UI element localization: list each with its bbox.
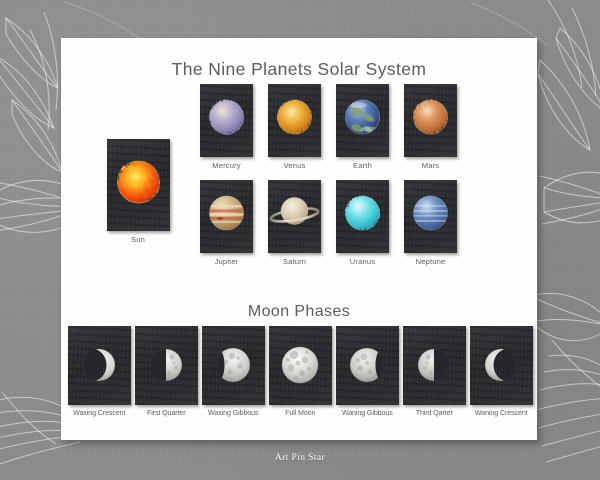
moon-label: Waning Crescent — [470, 409, 533, 417]
moon-card-image — [68, 326, 131, 405]
moon-label: Full Moon — [269, 409, 332, 417]
planet-grid: Mercury — [200, 84, 520, 266]
moon-card-full[interactable]: Full Moon — [269, 326, 332, 417]
sun-card[interactable]: Sun — [101, 139, 175, 244]
moon-card-waning-gibbous[interactable]: Waning Gibbous — [336, 326, 399, 417]
planet-row-outer: Jupiter — [200, 180, 520, 266]
moon-waxing-crescent-icon — [68, 326, 130, 405]
planet-card-mars[interactable]: Mars — [404, 84, 457, 170]
planet-card-image — [336, 180, 389, 253]
planet-label: Uranus — [336, 257, 389, 266]
planet-mercury-icon — [200, 84, 253, 157]
planet-card-image — [200, 84, 253, 157]
moon-waxing-gibbous-icon — [202, 326, 264, 405]
planet-label: Saturn — [268, 257, 321, 266]
planet-card-mercury[interactable]: Mercury — [200, 84, 253, 170]
planet-jupiter-icon — [200, 180, 253, 253]
moon-label: Third Qarter — [403, 409, 466, 417]
planet-neptune-icon — [404, 180, 457, 253]
moon-card-image — [403, 326, 466, 405]
moon-card-waxing-crescent[interactable]: Waxing Crescent — [68, 326, 131, 417]
moon-label: Waxing Crescent — [68, 409, 131, 417]
planet-venus-icon — [268, 84, 321, 157]
planet-uranus-icon — [336, 180, 389, 253]
moon-card-image — [269, 326, 332, 405]
planet-card-image — [268, 84, 321, 157]
watermark: Art Pin Star — [0, 453, 600, 463]
moon-card-third-quarter[interactable]: Third Qarter — [403, 326, 466, 417]
sun-icon — [107, 139, 170, 231]
planet-label: Mars — [404, 161, 457, 170]
moon-card-waxing-gibbous[interactable]: Waxing Gibbous — [202, 326, 265, 417]
moon-card-image — [202, 326, 265, 405]
planet-label: Mercury — [200, 161, 253, 170]
moon-card-image — [336, 326, 399, 405]
planet-card-uranus[interactable]: Uranus — [336, 180, 389, 266]
planet-card-image — [404, 180, 457, 253]
page-title: The Nine Planets Solar System — [61, 59, 537, 80]
planet-card-image — [336, 84, 389, 157]
planet-label: Jupiter — [200, 257, 253, 266]
planet-card-saturn[interactable]: Saturn — [268, 180, 321, 266]
moon-phase-strip: Waxing Crescent — [68, 326, 530, 417]
planet-card-image — [268, 180, 321, 253]
moon-card-waning-crescent[interactable]: Waning Crescent — [470, 326, 533, 417]
moon-label: First Quarter — [135, 409, 198, 417]
moon-card-first-quarter[interactable]: First Quarter — [135, 326, 198, 417]
planet-card-venus[interactable]: Venus — [268, 84, 321, 170]
planet-card-image — [404, 84, 457, 157]
planet-earth-icon — [336, 84, 389, 157]
planet-card-earth[interactable]: Earth — [336, 84, 389, 170]
moon-third-quarter-icon — [403, 326, 465, 405]
sun-card-image — [107, 139, 170, 231]
moon-card-image — [135, 326, 198, 405]
planet-mars-icon — [404, 84, 457, 157]
moon-first-quarter-icon — [135, 326, 197, 405]
planet-label: Neptune — [404, 257, 457, 266]
moon-phases-title: Moon Phases — [61, 303, 537, 321]
moon-label: Waxing Gibbous — [202, 409, 265, 417]
planet-saturn-icon — [268, 180, 321, 253]
planet-label: Earth — [336, 161, 389, 170]
poster-sheet: The Nine Planets Solar System — [61, 38, 537, 440]
sun-label: Sun — [101, 235, 175, 244]
planet-card-neptune[interactable]: Neptune — [404, 180, 457, 266]
planet-card-jupiter[interactable]: Jupiter — [200, 180, 253, 266]
moon-full-icon — [269, 326, 331, 405]
planet-row-inner: Mercury — [200, 84, 520, 170]
planet-label: Venus — [268, 161, 321, 170]
moon-label: Waning Gibbous — [336, 409, 399, 417]
moon-waning-crescent-icon — [470, 326, 532, 405]
planet-card-image — [200, 180, 253, 253]
moon-waning-gibbous-icon — [336, 326, 398, 405]
moon-card-image — [470, 326, 533, 405]
